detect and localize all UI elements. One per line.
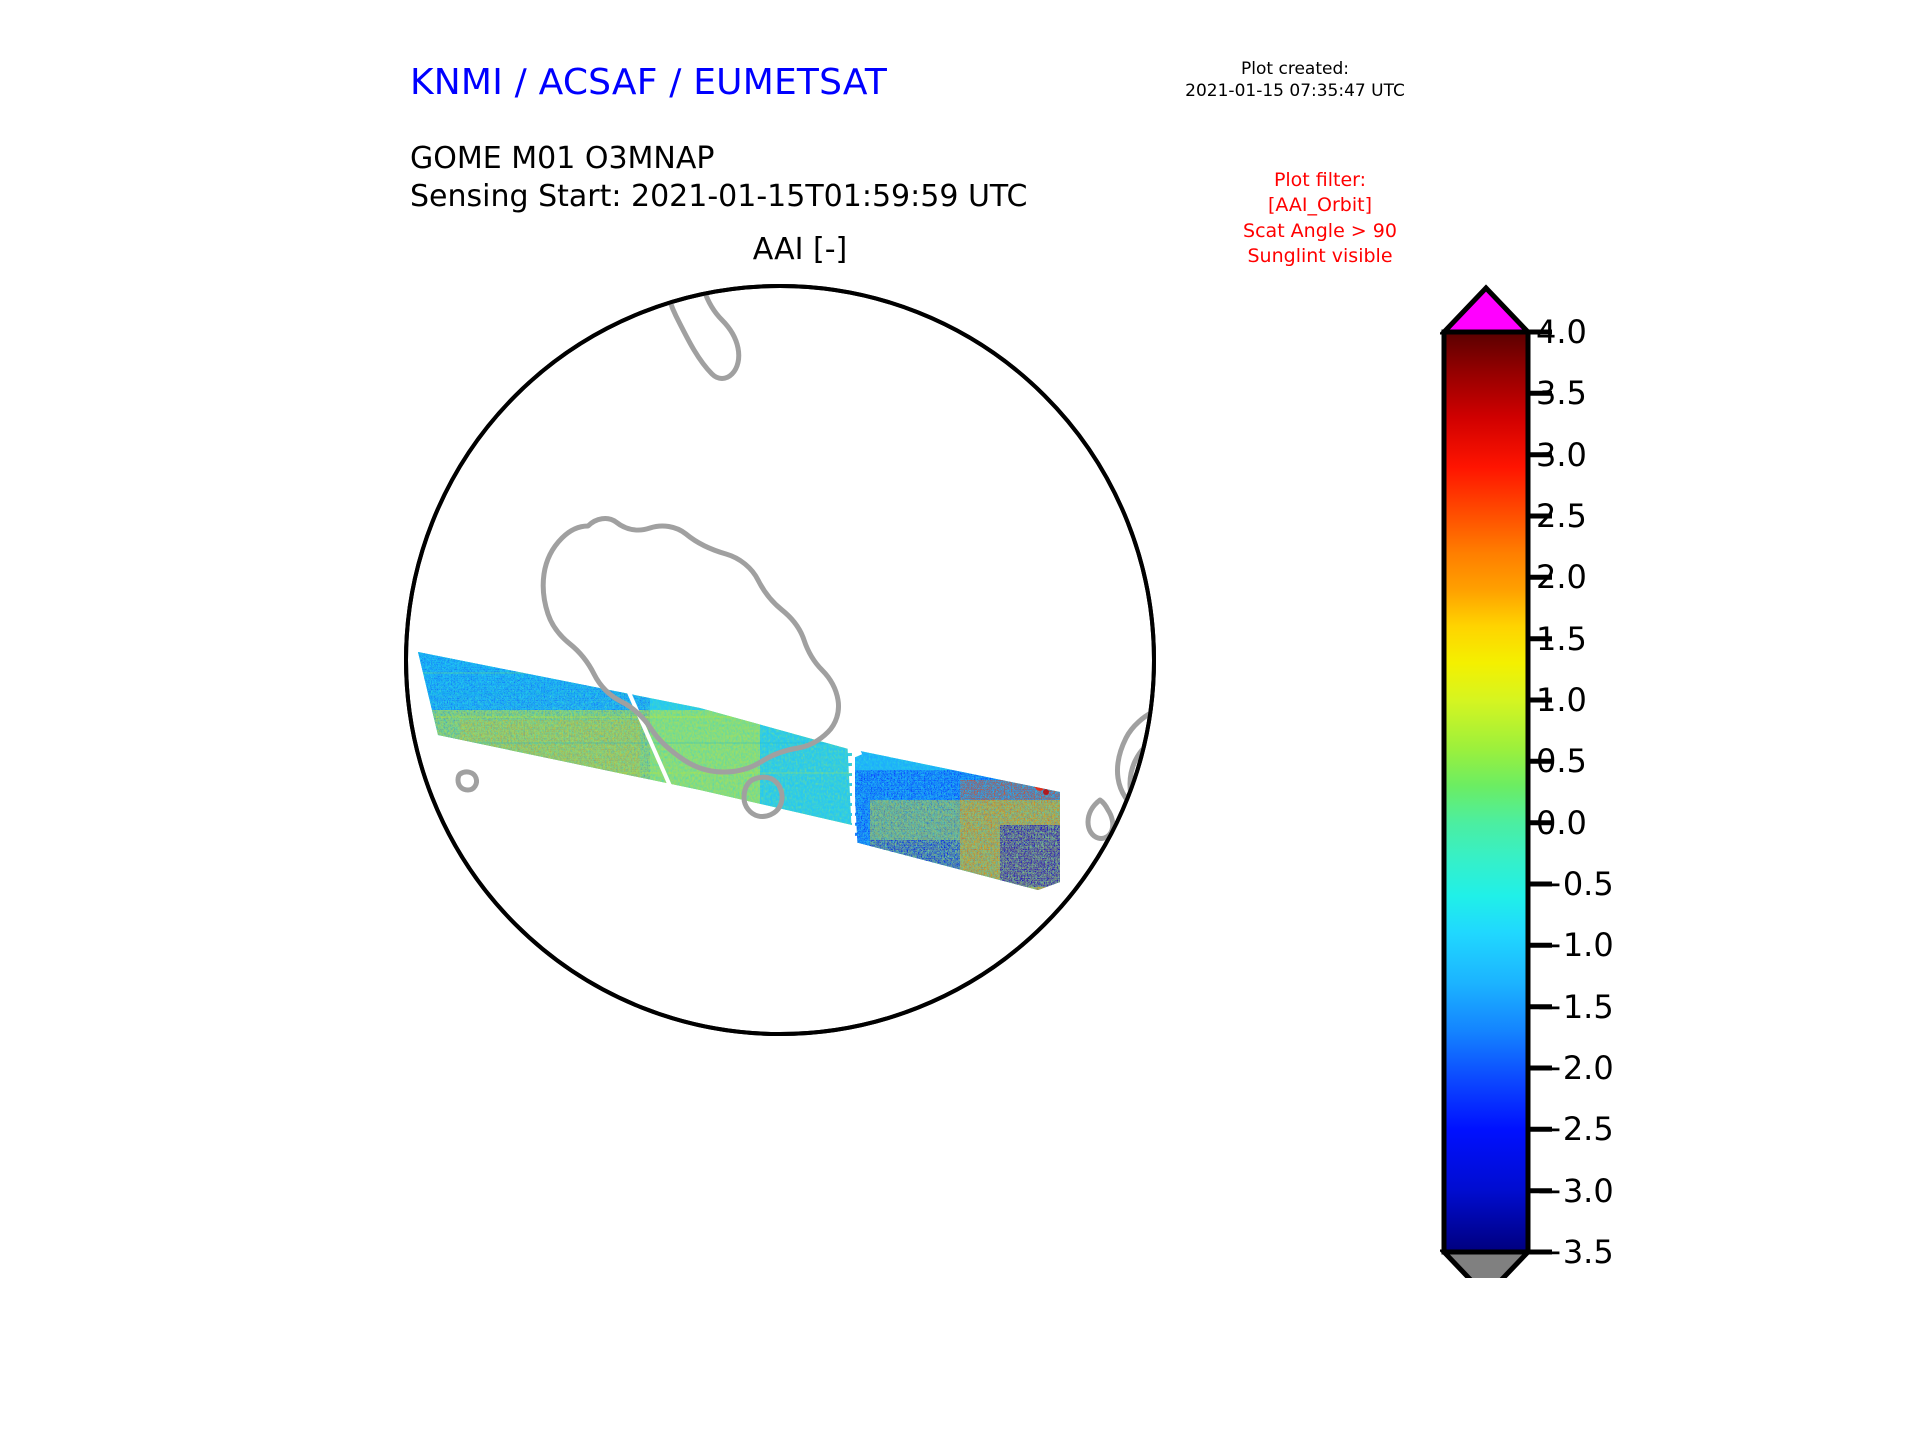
globe-projection [400, 280, 1160, 1040]
quantity-title: AAI [-] [410, 232, 1190, 267]
colorbar-tick-label: −2.0 [1536, 1052, 1614, 1084]
plot-created-timestamp: 2021-01-15 07:35:47 UTC [1140, 80, 1450, 102]
colorbar-tick-label: −0.5 [1536, 868, 1614, 900]
colorbar-tick-label: −1.5 [1536, 991, 1614, 1023]
colorbar-tick-label: −3.5 [1536, 1236, 1614, 1268]
plot-filter-name: [AAI_Orbit] [1190, 193, 1450, 218]
institute-title: KNMI / ACSAF / EUMETSAT [410, 62, 887, 103]
plot-filter-heading: Plot filter: [1190, 168, 1450, 193]
colorbar-tick-label: −1.0 [1536, 929, 1614, 961]
map-area [400, 280, 1160, 1040]
colorbar-tick-label: 3.5 [1536, 377, 1587, 409]
plot-created-block: Plot created: 2021-01-15 07:35:47 UTC [1140, 58, 1450, 103]
plot-filter-block: Plot filter: [AAI_Orbit] Scat Angle > 90… [1190, 168, 1450, 269]
colorbar-tick-label: −3.0 [1536, 1175, 1614, 1207]
colorbar: 4.0 3.5 3.0 2.5 2.0 1.5 1.0 0.5 0.0 −0.5… [1440, 278, 1800, 1278]
colorbar-over-range-arrow [1444, 288, 1528, 332]
colorbar-under-range-arrow [1444, 1252, 1528, 1278]
colorbar-tick-label: 4.0 [1536, 316, 1587, 348]
sensing-start: Sensing Start: 2021-01-15T01:59:59 UTC [410, 178, 1027, 216]
globe-outline [406, 286, 1154, 1034]
plot-filter-condition: Scat Angle > 90 [1190, 219, 1450, 244]
coastline-south-america-south [1143, 878, 1160, 964]
colorbar-tick-label: 2.0 [1536, 561, 1587, 593]
plot-created-label: Plot created: [1140, 58, 1450, 80]
colorbar-tick-label: 0.5 [1536, 745, 1587, 777]
colorbar-tick-label: 3.0 [1536, 439, 1587, 471]
colorbar-tick-label: 0.0 [1536, 807, 1587, 839]
colorbar-tick-label: 2.5 [1536, 500, 1587, 532]
colorbar-tick-label: 1.5 [1536, 623, 1587, 655]
colorbar-tick-label: 1.0 [1536, 684, 1587, 716]
product-title-block: GOME M01 O3MNAP Sensing Start: 2021-01-1… [410, 140, 1027, 217]
product-name: GOME M01 O3MNAP [410, 140, 1027, 178]
plot-filter-note: Sunglint visible [1190, 244, 1450, 269]
colorbar-tick-label: −2.5 [1536, 1113, 1614, 1145]
swath-gap-notch [852, 742, 858, 756]
colorbar-gradient [1444, 332, 1528, 1252]
colorbar-svg [1440, 278, 1800, 1278]
